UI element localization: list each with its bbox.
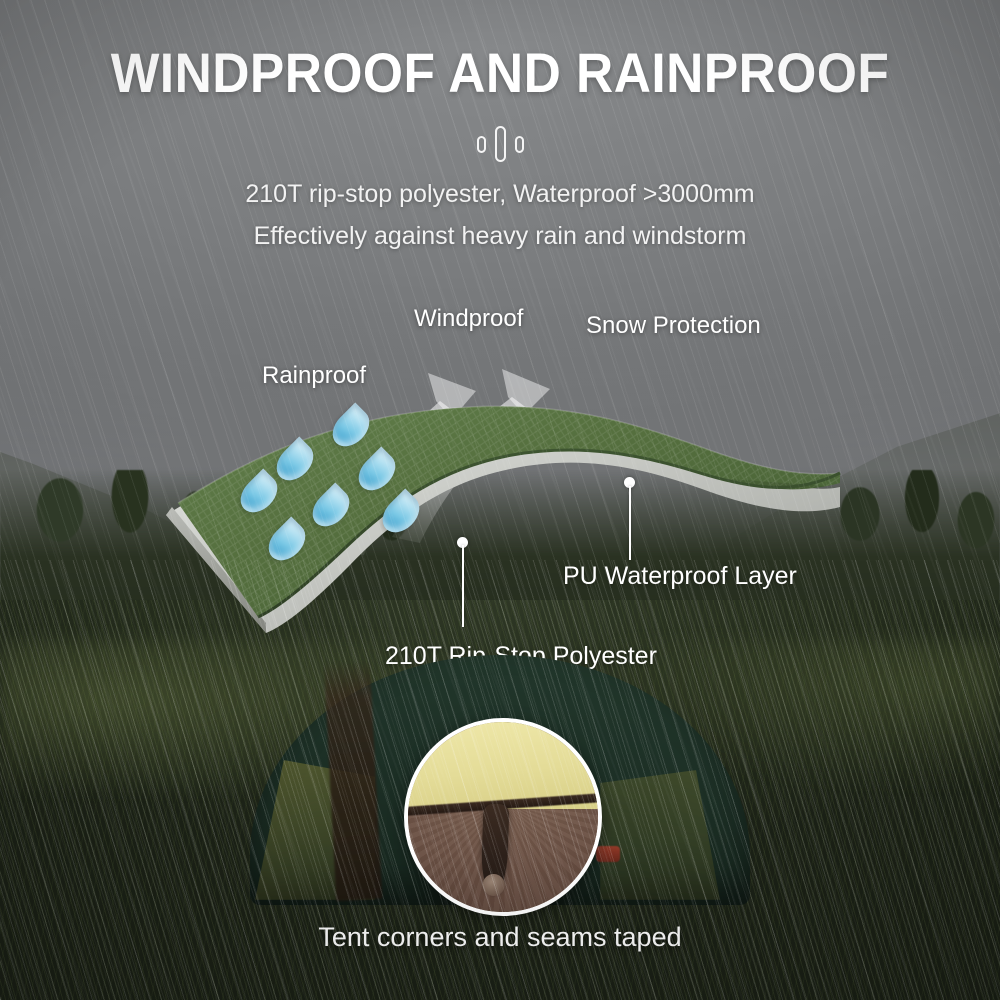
label-rainproof: Rainproof bbox=[262, 362, 366, 390]
divider-pill-right bbox=[515, 136, 524, 153]
subtitle-line-2: Effectively against heavy rain and winds… bbox=[0, 222, 1000, 251]
fabric-swatch-illustration bbox=[140, 355, 840, 635]
leader-line-polyester bbox=[462, 545, 464, 627]
label-snow-protection: Snow Protection bbox=[586, 312, 761, 340]
page-title: WINDPROOF AND RAINPROOF bbox=[40, 40, 960, 105]
leader-line-pu-layer bbox=[629, 486, 631, 560]
divider-pill-left bbox=[477, 136, 486, 153]
product-infographic: WINDPROOF AND RAINPROOF 210T rip-stop po… bbox=[0, 0, 1000, 1000]
tent-gear-detail bbox=[596, 846, 620, 862]
triple-pill-divider-icon bbox=[0, 122, 1000, 166]
label-windproof: Windproof bbox=[414, 305, 523, 333]
tent-seam-photo-inset bbox=[404, 718, 602, 916]
footer-caption: Tent corners and seams taped bbox=[0, 922, 1000, 953]
subtitle-line-1: 210T rip-stop polyester, Waterproof >300… bbox=[0, 180, 1000, 209]
label-pu-layer: PU Waterproof Layer bbox=[563, 562, 797, 591]
divider-pill-center bbox=[495, 126, 506, 162]
